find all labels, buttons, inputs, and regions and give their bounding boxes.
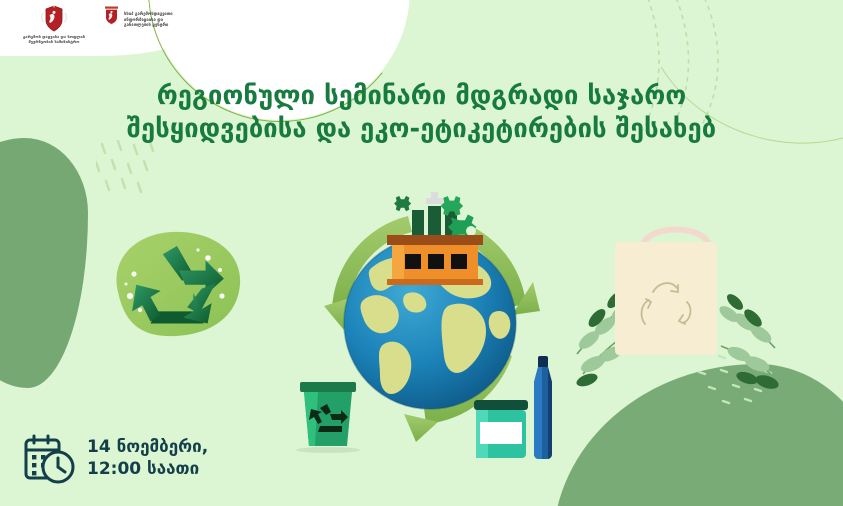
bag-body bbox=[615, 242, 717, 355]
ministry-logo: გარემოს დაცვისა და სოფლის მეურნეობის სამ… bbox=[8, 5, 100, 45]
circular-economy-globe-illustration bbox=[288, 178, 573, 463]
page-title: რეგიონული სემინარი მდგრადი საჯარო შესყიდ… bbox=[0, 80, 843, 146]
event-date-line: 14 ნოემბერი, bbox=[87, 437, 208, 459]
georgia-coat-of-arms-small-icon bbox=[104, 5, 119, 25]
eco-tote-bag-illustration bbox=[575, 222, 780, 407]
education-center-logo-caption: სსიპ გარემოსდაცვითი ინფორმაციისა და განა… bbox=[124, 11, 173, 28]
bottle-icon bbox=[534, 356, 552, 459]
poster-canvas: გარემოს დაცვისა და სოფლის მეურნეობის სამ… bbox=[0, 0, 843, 506]
event-date-badge: 14 ნოემბერი, 12:00 საათი bbox=[24, 434, 208, 484]
georgia-coat-of-arms-icon bbox=[39, 5, 69, 32]
event-time-line: 12:00 საათი bbox=[87, 459, 208, 481]
left-blob-shape bbox=[0, 138, 88, 388]
jar-icon bbox=[474, 400, 528, 458]
recycle-bin-icon bbox=[296, 382, 360, 453]
event-date-text: 14 ნოემბერი, 12:00 საათი bbox=[87, 437, 208, 481]
page-title-line-2: შესყიდვებისა და ეკო-ეტიკეტირების შესახებ bbox=[62, 113, 781, 146]
calendar-clock-icon bbox=[24, 434, 76, 484]
leaf-decoration-right-icon bbox=[717, 291, 780, 391]
ministry-logo-caption: გარემოს დაცვისა და სოფლის მეურნეობის სამ… bbox=[23, 34, 85, 45]
page-title-line-1: რეგიონული სემინარი მდგრადი საჯარო bbox=[62, 80, 781, 113]
recycling-symbol-illustration bbox=[100, 222, 250, 352]
factory-icon bbox=[387, 192, 483, 285]
logo-bar: გარემოს დაცვისა და სოფლის მეურნეობის სამ… bbox=[0, 0, 240, 56]
education-center-logo: სსიპ გარემოსდაცვითი ინფორმაციისა და განა… bbox=[104, 5, 224, 28]
dashed-ticks-left-icon bbox=[96, 140, 166, 200]
